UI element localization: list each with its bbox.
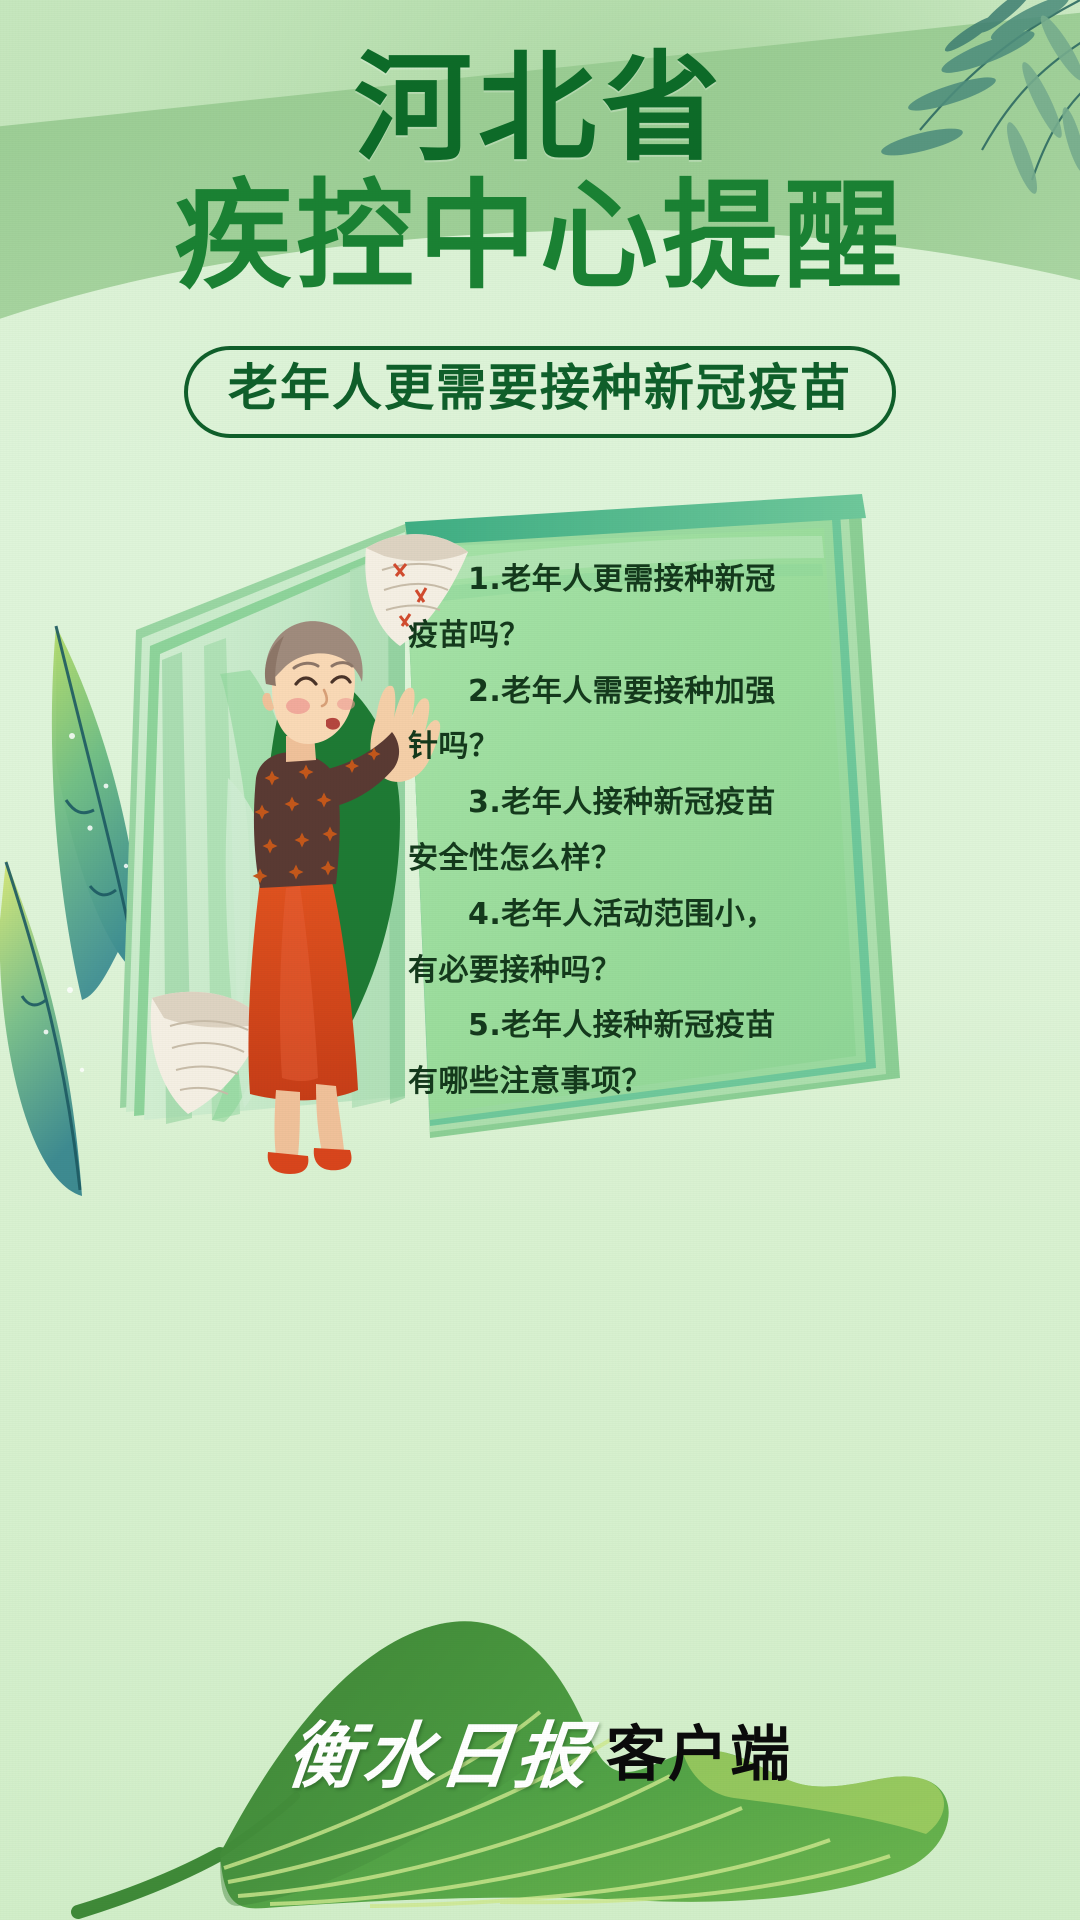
question-item-2: 2.老年人需要接种加强针吗？ xyxy=(408,664,776,776)
brand-plain-text: 客户端 xyxy=(606,1706,792,1793)
question-item-5: 5.老年人接种新冠疫苗有哪些注意事项？ xyxy=(408,998,776,1110)
poster-root: 河北省 疾控中心提醒 老年人更需要接种新冠疫苗 xyxy=(0,0,1080,1920)
page-title-line1: 河北省 xyxy=(0,48,1080,168)
brand-wordmark: 衡水日报客户端 xyxy=(0,1697,1080,1802)
question-item-3: 3.老年人接种新冠疫苗安全性怎么样？ xyxy=(408,775,776,887)
question-item-1: 1.老年人更需接种新冠疫苗吗？ xyxy=(408,552,776,664)
subtitle-pill: 老年人更需要接种新冠疫苗 xyxy=(184,346,896,438)
poster-header: 河北省 疾控中心提醒 老年人更需要接种新冠疫苗 xyxy=(0,48,1080,438)
question-item-4: 4.老年人活动范围小，有必要接种吗？ xyxy=(408,887,776,999)
subtitle-text: 老年人更需要接种新冠疫苗 xyxy=(228,359,852,417)
page-title-line2: 疾控中心提醒 xyxy=(0,174,1080,298)
brand-script-text: 衡水日报 xyxy=(282,1697,597,1802)
question-list: 1.老年人更需接种新冠疫苗吗？ 2.老年人需要接种加强针吗？ 3.老年人接种新冠… xyxy=(408,552,776,1110)
subtitle-pill-wrap: 老年人更需要接种新冠疫苗 xyxy=(0,346,1080,438)
